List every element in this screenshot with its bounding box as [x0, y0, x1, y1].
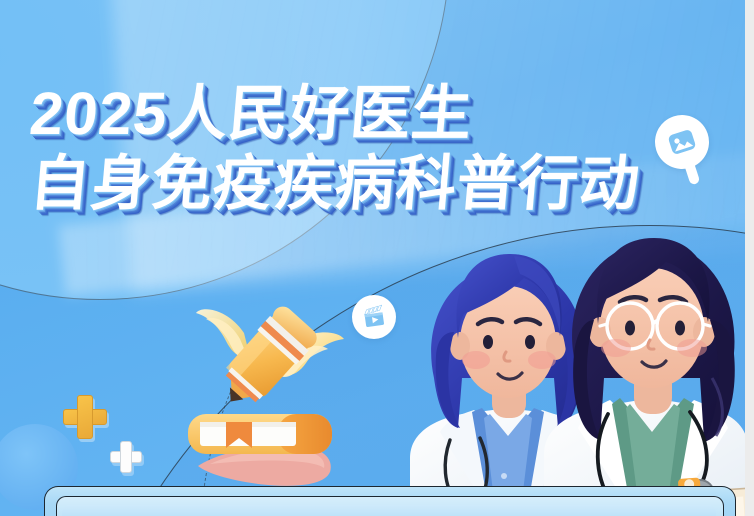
doctors-illustration — [404, 228, 745, 516]
winged-pencil-icon — [178, 305, 358, 415]
yellow-cross-icon — [63, 395, 105, 437]
right-gutter — [745, 0, 754, 516]
white-cross-icon — [110, 441, 140, 471]
desk-bar-highlight — [62, 505, 716, 516]
poster-canvas: 2025人民好医生 自身免疫疾病科普行动 — [0, 0, 754, 516]
book-icon — [186, 408, 334, 460]
poster-background: 2025人民好医生 自身免疫疾病科普行动 — [0, 0, 745, 516]
video-clapperboard-icon — [352, 295, 396, 339]
